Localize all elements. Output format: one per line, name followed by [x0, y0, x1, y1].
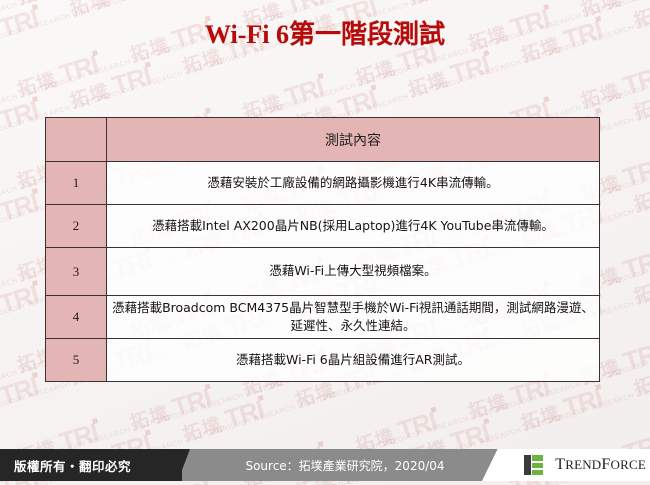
watermark-sub-text: TOPOLOGY RESEARCH INSTITUTE: [96, 0, 226, 11]
watermark-unit: 拓墣TRITOPOLOGY RESEARCH INSTITUTE: [13, 0, 102, 11]
watermark-sub-text: TOPOLOGY RESEARCH INSTITUTE: [96, 57, 226, 103]
watermark-cn-text: 拓墣: [180, 414, 225, 447]
watermark-tri-text: TRI: [620, 0, 650, 9]
watermark-dot-icon: [145, 62, 151, 68]
watermark-dot-icon: [32, 372, 38, 378]
watermark-sub-text: TOPOLOGY RESEARCH INSTITUTE: [607, 57, 650, 103]
watermark-tri-text: TRI: [0, 187, 42, 227]
column-header-content: 測試內容: [107, 118, 600, 162]
watermark-cn-text: 拓墣: [293, 379, 338, 412]
watermark-sub-text: TOPOLOGY RESEARCH INSTITUTE: [607, 0, 650, 11]
row-number: 1: [46, 162, 107, 205]
watermark-sub-text: TOPOLOGY RESEARCH INSTITUTE: [382, 402, 512, 448]
watermark-dot-icon: [317, 73, 323, 79]
table-row: 4 憑藉搭載Broadcom BCM4375晶片智慧型手機於Wi-Fi視訊通話期…: [46, 296, 600, 339]
watermark-dot-icon: [483, 418, 489, 424]
watermark-unit: 拓墣TRITOPOLOGY RESEARCH INSTITUTE: [404, 49, 493, 103]
watermark-cn-text: 拓墣: [68, 80, 113, 113]
watermark-sub-text: TOPOLOGY RESEARCH INSTITUTE: [434, 46, 564, 92]
watermark-cn-text: 拓墣: [631, 276, 650, 309]
watermark-dot-icon: [205, 108, 211, 114]
watermark-dot-icon: [92, 418, 98, 424]
slide-root: 拓墣TRITOPOLOGY RESEARCH INSTITUTE拓墣TRITOP…: [0, 0, 650, 485]
watermark-dot-icon: [257, 395, 263, 401]
table-header-row: 測試內容: [46, 118, 600, 162]
watermark-sub-text: TOPOLOGY RESEARCH INSTITUTE: [607, 149, 650, 195]
brand-rend: REND: [565, 457, 601, 472]
watermark-tri-text: TRI: [221, 394, 267, 434]
table-row: 3 憑藉Wi-Fi上傳大型視頻檔案。: [46, 248, 600, 296]
watermark-cn-text: 拓墣: [519, 402, 564, 435]
watermark-unit: 拓墣TRITOPOLOGY RESEARCH INSTITUTE: [0, 187, 42, 241]
row-content: 憑藉搭載Broadcom BCM4375晶片智慧型手機於Wi-Fi視訊通話期間，…: [107, 296, 600, 339]
watermark-unit: 拓墣TRITOPOLOGY RESEARCH INSTITUTE: [629, 256, 650, 310]
page-title: Wi-Fi 6第一階段測試: [0, 14, 650, 51]
row-content: 憑藉Wi-Fi上傳大型視頻檔案。: [107, 248, 600, 296]
watermark-tri-text: TRI: [447, 49, 493, 89]
brand-t: T: [555, 456, 565, 473]
column-header-number: [46, 118, 107, 162]
watermark-sub-text: TOPOLOGY RESEARCH INSTITUTE: [0, 126, 1, 172]
watermark-dot-icon: [543, 4, 549, 10]
watermark-sub-text: TOPOLOGY RESEARCH INSTITUTE: [547, 379, 650, 425]
watermark-dot-icon: [370, 85, 376, 91]
watermark-unit: 拓墣TRITOPOLOGY RESEARCH INSTITUTE: [629, 72, 650, 126]
watermark-tri-text: TRI: [620, 337, 650, 377]
watermark-sub-text: TOPOLOGY RESEARCH INSTITUTE: [0, 402, 1, 448]
watermark-unit: 拓墣TRITOPOLOGY RESEARCH INSTITUTE: [178, 394, 267, 448]
watermark-dot-icon: [145, 430, 151, 436]
row-content: 憑藉搭載Intel AX200晶片NB(採用Laptop)進行4K YouTub…: [107, 205, 600, 248]
watermark-dot-icon: [205, 384, 211, 390]
watermark-tri-text: TRI: [394, 406, 440, 446]
table-row: 1 憑藉安裝於工廠設備的網路攝影機進行4K串流傳輸。: [46, 162, 600, 205]
watermark-sub-text: TOPOLOGY RESEARCH INSTITUTE: [209, 391, 339, 437]
watermark-unit: 拓墣TRITOPOLOGY RESEARCH INSTITUTE: [404, 0, 493, 11]
row-number: 4: [46, 296, 107, 339]
watermark-tri-text: TRI: [281, 72, 327, 112]
watermark-tri-text: TRI: [560, 383, 606, 423]
row-content: 憑藉安裝於工廠設備的網路攝影機進行4K串流傳輸。: [107, 162, 600, 205]
watermark-tri-text: TRI: [109, 61, 155, 101]
watermark-tri-text: TRI: [620, 153, 650, 193]
watermark-dot-icon: [430, 407, 436, 413]
watermark-unit: 拓墣TRITOPOLOGY RESEARCH INSTITUTE: [577, 61, 650, 115]
watermark-tri-text: TRI: [56, 49, 102, 89]
watermark-cn-text: 拓墣: [128, 402, 173, 435]
watermark-sub-text: TOPOLOGY RESEARCH INSTITUTE: [607, 241, 650, 287]
trendforce-mark-icon: [524, 455, 550, 475]
watermark-unit: 拓墣TRITOPOLOGY RESEARCH INSTITUTE: [0, 95, 42, 149]
watermark-dot-icon: [596, 108, 602, 114]
row-number: 5: [46, 339, 107, 382]
copyright-text: 版權所有・翻印必究: [14, 456, 131, 475]
table-row: 5 憑藉搭載Wi-Fi 6晶片組設備進行AR測試。: [46, 339, 600, 382]
watermark-tri-text: TRI: [0, 95, 42, 135]
footer-left-panel: 版權所有・翻印必究: [0, 449, 182, 481]
watermark-unit: 拓墣TRITOPOLOGY RESEARCH INSTITUTE: [0, 279, 42, 333]
trendforce-wordmark: TRENDFORCE: [555, 456, 646, 474]
watermark-cn-text: 拓墣: [15, 0, 60, 9]
watermark-unit: 拓墣TRITOPOLOGY RESEARCH INSTITUTE: [66, 61, 155, 115]
row-number: 3: [46, 248, 107, 296]
watermark-tri-text: TRI: [0, 279, 42, 319]
test-phase-table: 測試內容 1 憑藉安裝於工廠設備的網路攝影機進行4K串流傳輸。 2 憑藉搭載In…: [45, 117, 600, 382]
trendforce-logo: TRENDFORCE: [524, 453, 646, 477]
watermark-cn-text: 拓墣: [579, 80, 624, 113]
table: 測試內容 1 憑藉安裝於工廠設備的網路攝影機進行4K串流傳輸。 2 憑藉搭載In…: [45, 117, 600, 382]
watermark-cn-text: 拓墣: [631, 368, 650, 401]
watermark-cn-text: 拓墣: [631, 184, 650, 217]
watermark-cn-text: 拓墣: [466, 391, 511, 424]
watermark-cn-text: 拓墣: [631, 92, 650, 125]
watermark-tri-text: TRI: [620, 245, 650, 285]
watermark-sub-text: TOPOLOGY RESEARCH INSTITUTE: [0, 218, 1, 264]
watermark-dot-icon: [596, 384, 602, 390]
brand-orce: ORCE: [611, 457, 646, 472]
watermark-cn-text: 拓墣: [15, 69, 60, 102]
table-head: 測試內容: [46, 118, 600, 162]
watermark-cn-text: 拓墣: [406, 0, 451, 9]
table-row: 2 憑藉搭載Intel AX200晶片NB(採用Laptop)進行4K YouT…: [46, 205, 600, 248]
footer: 版權所有・翻印必究 Source：拓墣產業研究院，2020/04 TRENDFO…: [0, 445, 650, 485]
watermark-unit: 拓墣TRITOPOLOGY RESEARCH INSTITUTE: [517, 383, 606, 437]
watermark-sub-text: TOPOLOGY RESEARCH INSTITUTE: [269, 69, 399, 115]
watermark-tri-text: TRI: [109, 0, 155, 9]
watermark-dot-icon: [32, 96, 38, 102]
watermark-dot-icon: [483, 50, 489, 56]
source-text: Source：拓墣產業研究院，2020/04: [190, 449, 500, 481]
watermark-dot-icon: [32, 188, 38, 194]
watermark-sub-text: TOPOLOGY RESEARCH INSTITUTE: [43, 46, 173, 92]
watermark-dot-icon: [32, 280, 38, 286]
watermark-tri-text: TRI: [169, 383, 215, 423]
watermark-cn-text: 拓墣: [353, 57, 398, 90]
watermark-sub-text: TOPOLOGY RESEARCH INSTITUTE: [607, 333, 650, 379]
watermark-tri-text: TRI: [0, 371, 42, 411]
watermark-cn-text: 拓墣: [406, 69, 451, 102]
watermark-unit: 拓墣TRITOPOLOGY RESEARCH INSTITUTE: [13, 49, 102, 103]
brand-f: F: [601, 456, 610, 473]
watermark-sub-text: TOPOLOGY RESEARCH INSTITUTE: [0, 310, 1, 356]
table-body: 1 憑藉安裝於工廠設備的網路攝影機進行4K串流傳輸。 2 憑藉搭載Intel A…: [46, 162, 600, 382]
watermark-dot-icon: [32, 4, 38, 10]
watermark-sub-text: TOPOLOGY RESEARCH INSTITUTE: [156, 379, 286, 425]
watermark-dot-icon: [543, 96, 549, 102]
row-content: 憑藉搭載Wi-Fi 6晶片組設備進行AR測試。: [107, 339, 600, 382]
watermark-unit: 拓墣TRITOPOLOGY RESEARCH INSTITUTE: [629, 348, 650, 402]
watermark-unit: 拓墣TRITOPOLOGY RESEARCH INSTITUTE: [0, 371, 42, 425]
row-number: 2: [46, 205, 107, 248]
watermark-unit: 拓墣TRITOPOLOGY RESEARCH INSTITUTE: [629, 164, 650, 218]
watermark-unit: 拓墣TRITOPOLOGY RESEARCH INSTITUTE: [126, 383, 215, 437]
watermark-tri-text: TRI: [620, 61, 650, 101]
